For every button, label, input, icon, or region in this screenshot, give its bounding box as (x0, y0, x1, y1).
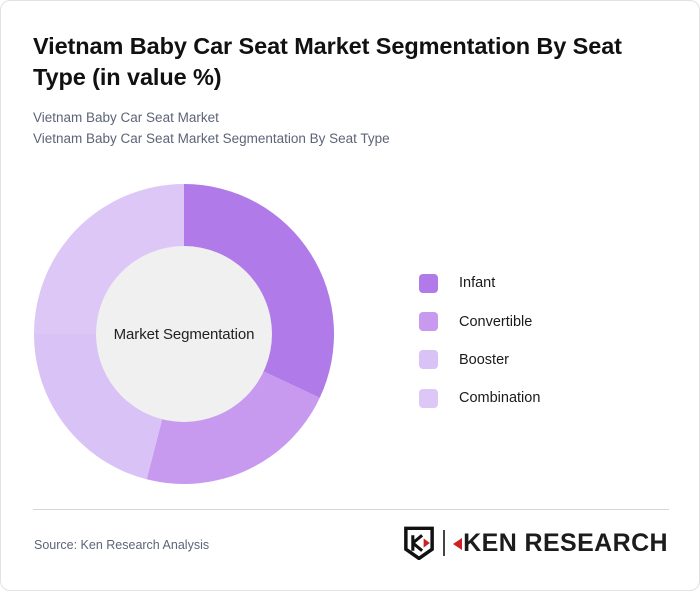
legend-swatch-icon (419, 312, 438, 331)
legend-item-convertible[interactable]: Convertible (419, 302, 649, 340)
legend-label: Booster (459, 352, 509, 368)
logo-separator (443, 530, 445, 556)
legend-swatch-icon (419, 350, 438, 369)
legend-label: Convertible (459, 314, 532, 330)
chart-header: Vietnam Baby Car Seat Market Segmentatio… (33, 31, 663, 149)
subtitle-line-2: Vietnam Baby Car Seat Market Segmentatio… (33, 128, 663, 149)
logo-wordmark-text: KEN RESEARCH (463, 531, 668, 556)
legend-item-booster[interactable]: Booster (419, 341, 649, 379)
footer-divider (33, 509, 669, 510)
legend-label: Infant (459, 275, 495, 291)
legend-item-infant[interactable]: Infant (419, 264, 649, 302)
donut-hole (96, 246, 272, 422)
chart-card: Vietnam Baby Car Seat Market Segmentatio… (0, 0, 700, 591)
page-title: Vietnam Baby Car Seat Market Segmentatio… (33, 31, 663, 93)
logo-triangle-icon (453, 538, 462, 550)
subtitle-line-1: Vietnam Baby Car Seat Market (33, 107, 663, 128)
subtitle-group: Vietnam Baby Car Seat Market Vietnam Bab… (33, 107, 663, 149)
legend-swatch-icon (419, 389, 438, 408)
donut-svg (33, 183, 335, 485)
legend-swatch-icon (419, 274, 438, 293)
ken-research-logo-mark-icon (402, 526, 436, 560)
logo-wordmark: KEN RESEARCH (453, 531, 668, 556)
ken-research-logo: KEN RESEARCH (402, 525, 668, 561)
legend-item-combination[interactable]: Combination (419, 379, 649, 417)
chart-legend: InfantConvertibleBoosterCombination (419, 264, 649, 418)
donut-chart: Market Segmentation (33, 183, 335, 485)
source-note: Source: Ken Research Analysis (34, 538, 209, 552)
plot-area: Market Segmentation InfantConvertibleBoo… (1, 161, 700, 501)
legend-label: Combination (459, 390, 540, 406)
